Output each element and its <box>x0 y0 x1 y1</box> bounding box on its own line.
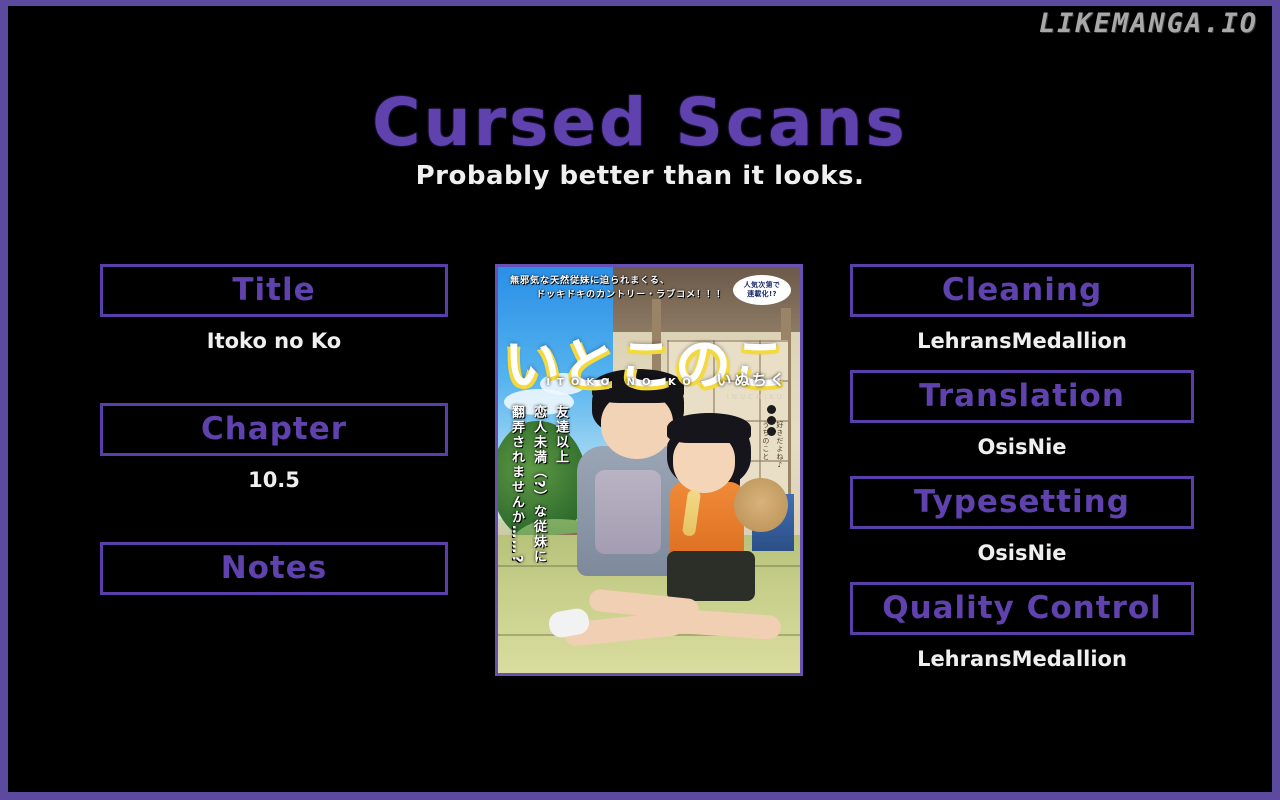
scanlation-header: Cursed Scans Probably better than it loo… <box>8 88 1272 191</box>
group-tagline: Probably better than it looks. <box>8 161 1272 191</box>
info-column-left: Title Itoko no Ko Chapter 10.5 Notes <box>100 264 448 611</box>
cover-romaji-title: ITOKO NO KO <box>546 377 697 388</box>
field-quality-control-value: LehransMedallion <box>850 635 1194 670</box>
cover-tagline-line2: ドッキドキのカントリー・ラブコメ！！！ <box>510 289 770 303</box>
field-typesetting-box: Typesetting <box>850 476 1194 529</box>
reader-page-canvas: LIKEMANGA.IO Cursed Scans Probably bette… <box>8 6 1272 792</box>
field-quality-control-label: Quality Control <box>882 593 1162 624</box>
cover-tagline-line1: 無邪気な天然従妹に迫られまくる、 <box>510 276 670 286</box>
cover-dot <box>767 405 776 414</box>
field-chapter: Chapter 10.5 <box>100 403 448 491</box>
field-title-label: Title <box>232 275 315 306</box>
field-chapter-value: 10.5 <box>100 456 448 491</box>
field-title-box: Title <box>100 264 448 317</box>
cover-promo-badge: 人気次第で 連載化!? <box>733 275 791 305</box>
field-translation-label: Translation <box>919 381 1125 412</box>
cover-author-romaji: INUCHIKU <box>727 393 785 401</box>
field-typesetting-label: Typesetting <box>914 487 1130 518</box>
field-typesetting-value: OsisNie <box>850 529 1194 564</box>
field-cleaning-box: Cleaning <box>850 264 1194 317</box>
cover-side-line2: うちのこと <box>761 421 771 470</box>
field-translation-box: Translation <box>850 370 1194 423</box>
field-typesetting: Typesetting OsisNie <box>850 476 1194 564</box>
cover-artwork: 無邪気な天然従妹に迫られまくる、 ドッキドキのカントリー・ラブコメ！！！ 人気次… <box>498 267 800 673</box>
cover-badge-line1: 人気次第で <box>744 281 781 290</box>
cover-author-name: いぬちく <box>716 369 788 390</box>
field-quality-control: Quality Control LehransMedallion <box>850 582 1194 670</box>
cover-straw-hat <box>734 478 788 532</box>
field-chapter-box: Chapter <box>100 403 448 456</box>
cover-girl-shorts <box>667 551 755 601</box>
field-quality-control-box: Quality Control <box>850 582 1194 635</box>
cover-girl-fringe <box>667 413 751 443</box>
cover-vertical-line2: 恋人未満（?）な従妹に <box>529 405 548 565</box>
field-chapter-label: Chapter <box>201 414 347 445</box>
cover-vertical-copy: 友達以上 恋人未満（?）な従妹に 翻弄されませんか……? <box>507 405 570 565</box>
cover-vertical-line1: 友達以上 <box>551 405 570 565</box>
info-column-right: Cleaning LehransMedallion Translation Os… <box>850 264 1194 670</box>
field-notes-box: Notes <box>100 542 448 595</box>
cover-tagline: 無邪気な天然従妹に迫られまくる、 ドッキドキのカントリー・ラブコメ！！！ <box>510 275 770 302</box>
cover-girl-tank-top <box>670 482 744 560</box>
group-title: Cursed Scans <box>8 88 1272 157</box>
field-translation-value: OsisNie <box>850 423 1194 458</box>
page-frame: LIKEMANGA.IO Cursed Scans Probably bette… <box>0 0 1280 800</box>
cover-vertical-line3: 翻弄されませんか……? <box>507 405 526 565</box>
cover-boy-face <box>601 393 673 459</box>
field-title: Title Itoko no Ko <box>100 264 448 352</box>
site-watermark: LIKEMANGA.IO <box>1039 8 1258 39</box>
field-notes-label: Notes <box>221 553 328 584</box>
cover-boy-shirt <box>595 470 661 554</box>
field-cleaning-label: Cleaning <box>942 275 1102 306</box>
manga-cover-image: 無邪気な天然従妹に迫られまくる、 ドッキドキのカントリー・ラブコメ！！！ 人気次… <box>495 264 803 676</box>
cover-badge-line2: 連載化!? <box>747 290 777 299</box>
field-title-value: Itoko no Ko <box>100 317 448 352</box>
field-translation: Translation OsisNie <box>850 370 1194 458</box>
cover-side-copy: 好きだよね♪ うちのこと <box>761 421 785 470</box>
cover-side-line1: 好きだよね♪ <box>775 421 785 470</box>
field-notes-value <box>100 595 448 611</box>
field-cleaning: Cleaning LehransMedallion <box>850 264 1194 352</box>
field-notes: Notes <box>100 542 448 611</box>
field-cleaning-value: LehransMedallion <box>850 317 1194 352</box>
